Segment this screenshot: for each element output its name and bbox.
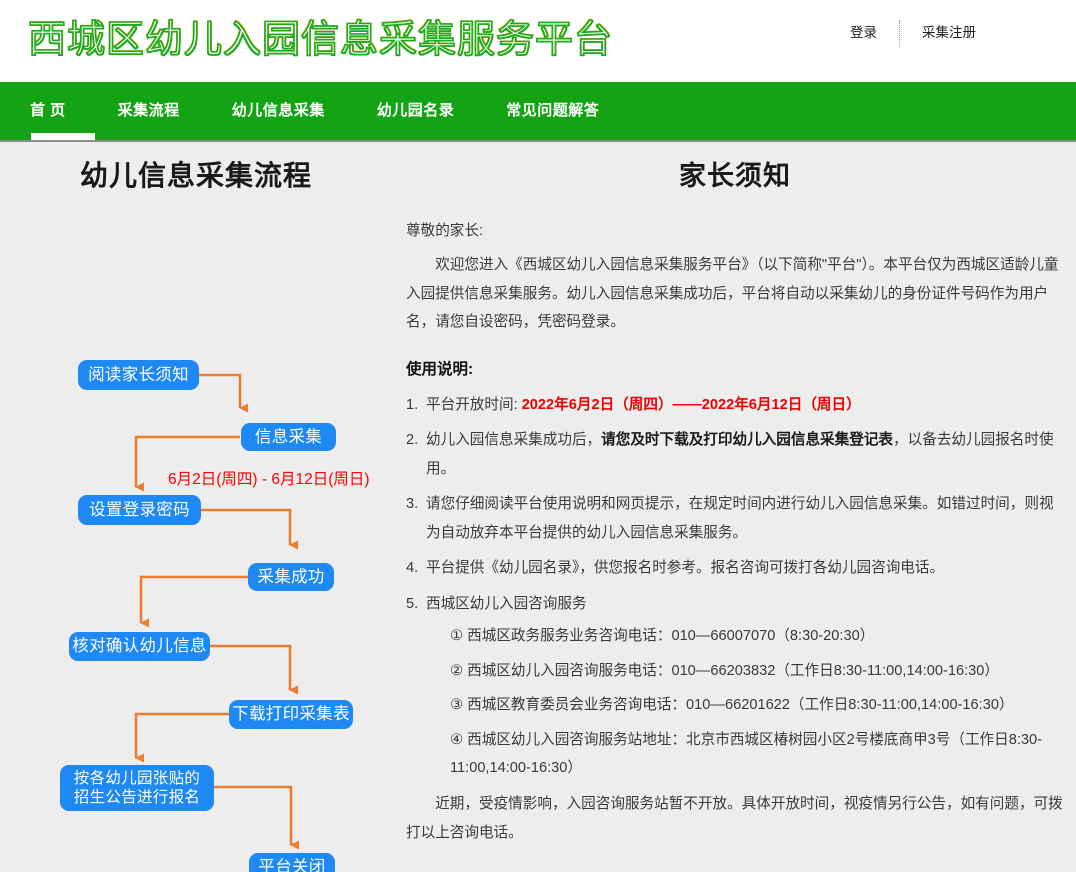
header-actions: 登录 采集注册 [828,20,998,46]
flow-date-collection: 6月2日(周四) - 6月12日(周日) [168,467,370,489]
login-link[interactable]: 登录 [828,21,899,46]
flow-step-label: 信息采集 [255,427,322,448]
nav-item-label: 首 页 [30,102,66,119]
notice-title: 家长须知 [406,154,1064,193]
flow-step-label: 平台关闭 [258,857,325,872]
epidemic-note: 近期，受疫情影响，入园咨询服务站暂不开放。具体开放时间，视疫情另行公告，如有问题… [406,790,1064,847]
flow-step-platform-close[interactable]: 平台关闭 [249,853,335,872]
usage-item-number: 4. [406,554,426,582]
nav-item-label: 常见问题解答 [506,102,599,119]
flow-step-read-notice[interactable]: 阅读家长须知 [78,360,199,390]
usage-item-text: 西城区幼儿入园咨询服务 [426,596,587,612]
flow-step-label: 设置登录密码 [89,500,190,521]
flow-step-verify-info[interactable]: 核对确认幼儿信息 [69,632,210,661]
parent-notice-panel: 家长须知 尊敬的家长: 欢迎您进入《西城区幼儿入园信息采集服务平台》（以下简称"… [398,142,1076,872]
usage-item-bold: 请您及时下载及打印幼儿入园信息采集登记表 [601,432,893,448]
flow-step-label: 采集成功 [257,567,324,588]
usage-item-highlight: 2022年6月2日（周四）——2022年6月12日（周日） [522,397,861,413]
flowchart-panel: 幼儿信息采集流程 [0,142,392,872]
usage-item-4: 4.平台提供《幼儿园名录》，供您报名时参考。报名咨询可拨打各幼儿园咨询电话。 [406,554,1064,582]
flow-step-info-collection[interactable]: 信息采集 [241,423,336,451]
flow-step-label: 阅读家长须知 [88,365,189,386]
nav-item-collection[interactable]: 幼儿信息采集 [232,82,325,120]
usage-item-text: 请您仔细阅读平台使用说明和网页提示，在规定时间内进行幼儿入园信息采集。如错过时间… [426,496,1054,540]
flow-step-label: 下载打印采集表 [232,704,350,725]
usage-item-text: 幼儿入园信息采集成功后， [426,432,601,448]
nav-item-home[interactable]: 首 页 [30,82,66,120]
register-link[interactable]: 采集注册 [900,21,998,46]
nav-item-directory[interactable]: 幼儿园名录 [377,82,455,120]
usage-item-number: 3. [406,490,426,518]
usage-item-number: 1. [406,391,426,419]
nav-item-label: 采集流程 [118,102,180,119]
page-main: 幼儿信息采集流程 [0,142,1076,872]
usage-item-text: 平台提供《幼儿园名录》，供您报名时参考。报名咨询可拨打各幼儿园咨询电话。 [426,560,944,576]
main-navigation: 首 页 采集流程 幼儿信息采集 幼儿园名录 常见问题解答 [0,82,1076,142]
notice-body: 尊敬的家长: 欢迎您进入《西城区幼儿入园信息采集服务平台》（以下简称"平台"）。… [406,217,1064,872]
nav-item-process[interactable]: 采集流程 [118,82,180,120]
usage-item-text: 平台开放时间: [426,397,522,413]
flow-step-register-at-kindergarten[interactable]: 按各幼儿园张贴的招生公告进行报名 [60,765,214,811]
flow-step-label: 核对确认幼儿信息 [72,636,206,657]
contact-item-education-commission-hotline: ③ 西城区教育委员会业务咨询电话：010—66201622（工作日8:30-11… [426,691,1064,719]
nav-item-label: 幼儿信息采集 [232,102,325,119]
nav-item-label: 幼儿园名录 [377,102,455,119]
notice-salutation: 尊敬的家长: [406,217,1064,245]
usage-heading: 使用说明: [406,355,1064,385]
flow-step-label: 按各幼儿园张贴的招生公告进行报名 [66,769,208,808]
nav-item-faq[interactable]: 常见问题解答 [506,82,599,120]
contact-item-service-station-address: ④ 西城区幼儿入园咨询服务站地址：北京市西城区椿树园小区2号楼底商甲3号（工作日… [426,726,1064,783]
contact-item-government-hotline: ① 西城区政务服务业务咨询电话：010—66007070（8:30-20:30） [426,622,1064,650]
site-header: 西城区幼儿入园信息采集服务平台 登录 采集注册 [0,0,1076,82]
usage-item-3: 3.请您仔细阅读平台使用说明和网页提示，在规定时间内进行幼儿入园信息采集。如错过… [406,490,1064,547]
usage-item-5: 5.西城区幼儿入园咨询服务 ① 西城区政务服务业务咨询电话：010—660070… [406,590,1064,783]
contact-item-enrollment-hotline: ② 西城区幼儿入园咨询服务电话：010—66203832（工作日8:30-11:… [426,657,1064,685]
usage-item-number: 2. [406,426,426,454]
contact-list: ① 西城区政务服务业务咨询电话：010—66007070（8:30-20:30）… [426,622,1064,782]
flow-step-success[interactable]: 采集成功 [248,563,334,591]
usage-item-number: 5. [406,590,426,618]
usage-item-1: 1.平台开放时间: 2022年6月2日（周四）——2022年6月12日（周日） [406,391,1064,419]
notice-intro: 欢迎您进入《西城区幼儿入园信息采集服务平台》（以下简称"平台"）。本平台仅为西城… [406,251,1064,336]
site-title: 西城区幼儿入园信息采集服务平台 [28,8,613,63]
usage-list: 1.平台开放时间: 2022年6月2日（周四）——2022年6月12日（周日） … [406,391,1064,782]
usage-item-2: 2.幼儿入园信息采集成功后，请您及时下载及打印幼儿入园信息采集登记表，以备去幼儿… [406,426,1064,483]
flow-step-print-form[interactable]: 下载打印采集表 [229,700,353,729]
nav-active-indicator [31,133,95,140]
flow-step-set-password[interactable]: 设置登录密码 [78,495,201,525]
